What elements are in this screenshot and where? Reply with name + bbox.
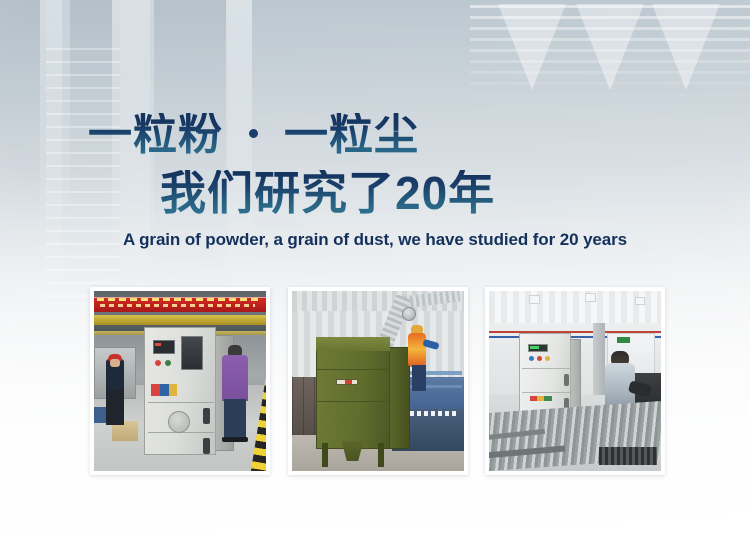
dot-separator-icon (249, 129, 258, 138)
p2-unit-top-hood (316, 337, 390, 351)
headline-subtitle-english: A grain of powder, a grain of dust, we h… (0, 230, 750, 250)
headline-line-1-part-1: 一粒粉 (88, 110, 223, 159)
headline-line-2: 我们研究了20年 (160, 170, 495, 216)
p3-exit-sign-icon (617, 337, 630, 343)
p3-structural-column (593, 323, 605, 399)
p1-vfd-module (181, 336, 203, 370)
p3-panel-seam-2 (522, 392, 570, 393)
headline-line-1: 一粒粉一粒尘 (88, 113, 419, 157)
p1-worker-1-head (110, 359, 120, 367)
p2-support-leg-1 (322, 443, 328, 467)
p3-button-icon-2 (537, 356, 542, 361)
p1-display-led (155, 343, 161, 346)
p3-door-handle-1 (564, 374, 569, 386)
photo-workshop-grey-collector-metal-profiles (489, 291, 661, 471)
promotional-banner: 一粒粉一粒尘 我们研究了20年 A grain of powder, a gra… (0, 0, 750, 550)
p3-ceiling-lamp-2 (585, 293, 596, 302)
photo-frame-2[interactable] (288, 287, 468, 475)
p1-worker-purple-shirt (222, 355, 248, 401)
p2-panel-seam-1 (317, 369, 389, 370)
p2-nameplate (336, 379, 358, 385)
photo-factory-floor-grey-dust-collector (94, 291, 266, 471)
p1-stop-button-icon (155, 360, 161, 366)
p3-button-icon-1 (529, 356, 534, 361)
p2-olive-dust-collector (316, 337, 390, 449)
p3-panel-seam-1 (522, 368, 570, 369)
p1-worker-2-jeans (224, 399, 246, 439)
p1-door-handle-2 (203, 438, 210, 454)
p2-worker-legs (412, 365, 426, 391)
p2-unit-side-panel (388, 347, 410, 449)
p1-start-button-icon (165, 360, 171, 366)
p3-profile-end-faces (599, 447, 657, 465)
p1-inlet-port (168, 411, 190, 433)
p3-button-icon-3 (545, 356, 550, 361)
p2-duct-flange (402, 307, 416, 321)
photo-olive-green-dust-collector-with-ducting (292, 291, 464, 471)
photo-strip (90, 287, 665, 475)
p3-ceiling-lamp-3 (635, 297, 645, 305)
p3-display-led (530, 346, 539, 349)
p2-support-leg-2 (378, 443, 384, 467)
p1-banner-text-line-1 (97, 298, 262, 301)
p1-door-seam-1 (148, 402, 214, 403)
headline-line-1-part-2: 一粒尘 (284, 110, 419, 159)
p3-ceiling-lamp-1 (529, 295, 540, 304)
p1-door-handle-1 (203, 408, 210, 424)
p2-worker-hi-vis (408, 333, 426, 367)
photo-frame-1[interactable] (90, 287, 270, 475)
p1-yellow-beam-1 (94, 315, 266, 325)
photo-frame-3[interactable] (485, 287, 665, 475)
p3-brand-label (530, 396, 552, 401)
p1-banner-text-line-2 (100, 304, 255, 307)
p1-dust-collector-cabinet (144, 327, 216, 455)
p2-lift-branding (410, 411, 458, 416)
p1-brand-label (151, 384, 177, 396)
p2-panel-seam-2 (317, 401, 389, 402)
p1-worker-2-shoes (222, 437, 248, 442)
p1-worker-dark-uniform (106, 359, 124, 425)
